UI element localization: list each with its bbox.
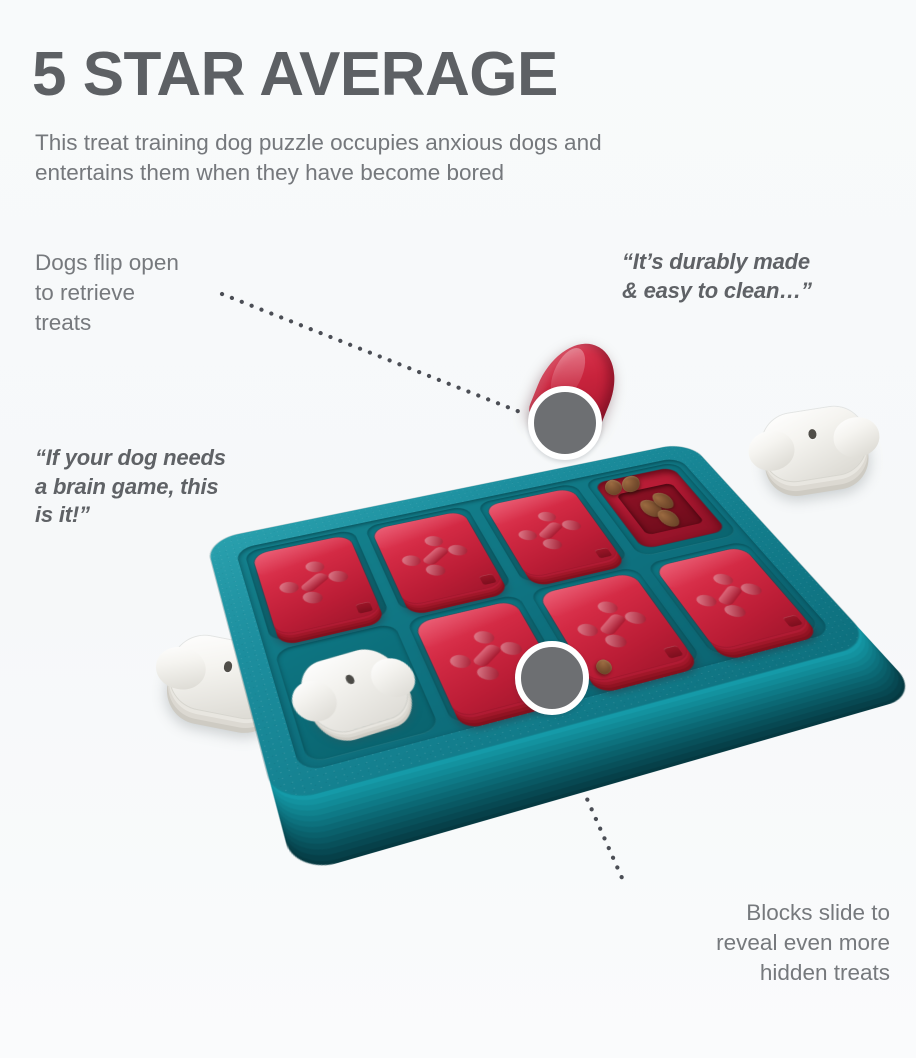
page-subtitle: This treat training dog puzzle occupies … xyxy=(35,128,825,188)
callout-line: reveal even more xyxy=(620,928,890,958)
callout-line: Dogs flip open xyxy=(35,248,265,278)
callout-line: “It’s durably made xyxy=(622,248,897,277)
subtitle-line-1: This treat training dog puzzle occupies … xyxy=(35,128,825,158)
block-hinge xyxy=(479,573,497,585)
page-title: 5 STAR AVERAGE xyxy=(32,44,558,106)
callout-line: hidden treats xyxy=(620,958,890,988)
perspective-stage xyxy=(150,330,910,800)
callout-line: Blocks slide to xyxy=(620,898,890,928)
callout-line: & easy to clean…” xyxy=(622,277,897,306)
hotspot-marker-bottom[interactable] xyxy=(515,641,589,715)
bone-emboss-icon xyxy=(396,533,476,580)
callout-blocks-slide: Blocks slide to reveal even more hidden … xyxy=(620,898,890,988)
callout-dogs-flip-open: Dogs flip open to retrieve treats xyxy=(35,248,265,338)
callout-line: to retrieve xyxy=(35,278,265,308)
hotspot-marker-top[interactable] xyxy=(528,386,602,460)
callout-durably-made-quote: “It’s durably made & easy to clean…” xyxy=(622,248,897,305)
product-photo-dog-puzzle xyxy=(150,330,910,800)
puzzle-tray xyxy=(206,442,872,804)
red-flip-block[interactable] xyxy=(252,535,381,637)
block-hinge xyxy=(594,547,612,558)
bone-emboss-icon xyxy=(273,559,356,608)
block-hinge xyxy=(663,645,684,659)
infographic-page: 5 STAR AVERAGE This treat training dog p… xyxy=(0,0,916,1058)
bone-emboss-icon xyxy=(512,509,588,553)
subtitle-line-2: entertains them when they have become bo… xyxy=(35,158,825,188)
